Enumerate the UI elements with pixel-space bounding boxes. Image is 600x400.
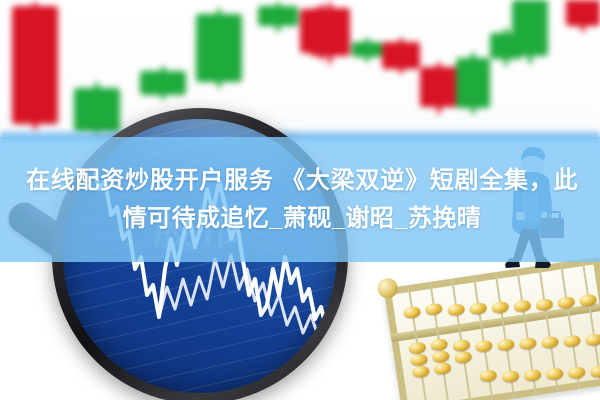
candle-13 [512,0,548,64]
caption-title: 在线配资炒股开户服务 《大梁双逆》短剧全集，此情可待成追忆_萧砚_谢昭_苏挽晴 [12,162,588,238]
candle-10 [420,62,458,114]
article-thumbnail-image: 股市 [0,0,600,400]
candle-11 [456,52,490,114]
candle-9 [382,38,420,74]
candle-14 [566,0,600,32]
caption-band: 在线配资炒股开户服务 《大梁双逆》短剧全集，此情可待成追忆_萧砚_谢昭_苏挽晴 [0,137,600,262]
candle-5 [258,2,298,32]
candle-3 [140,66,186,100]
candle-4 [196,8,242,88]
candle-8 [352,38,382,62]
candle-7 [310,2,350,64]
